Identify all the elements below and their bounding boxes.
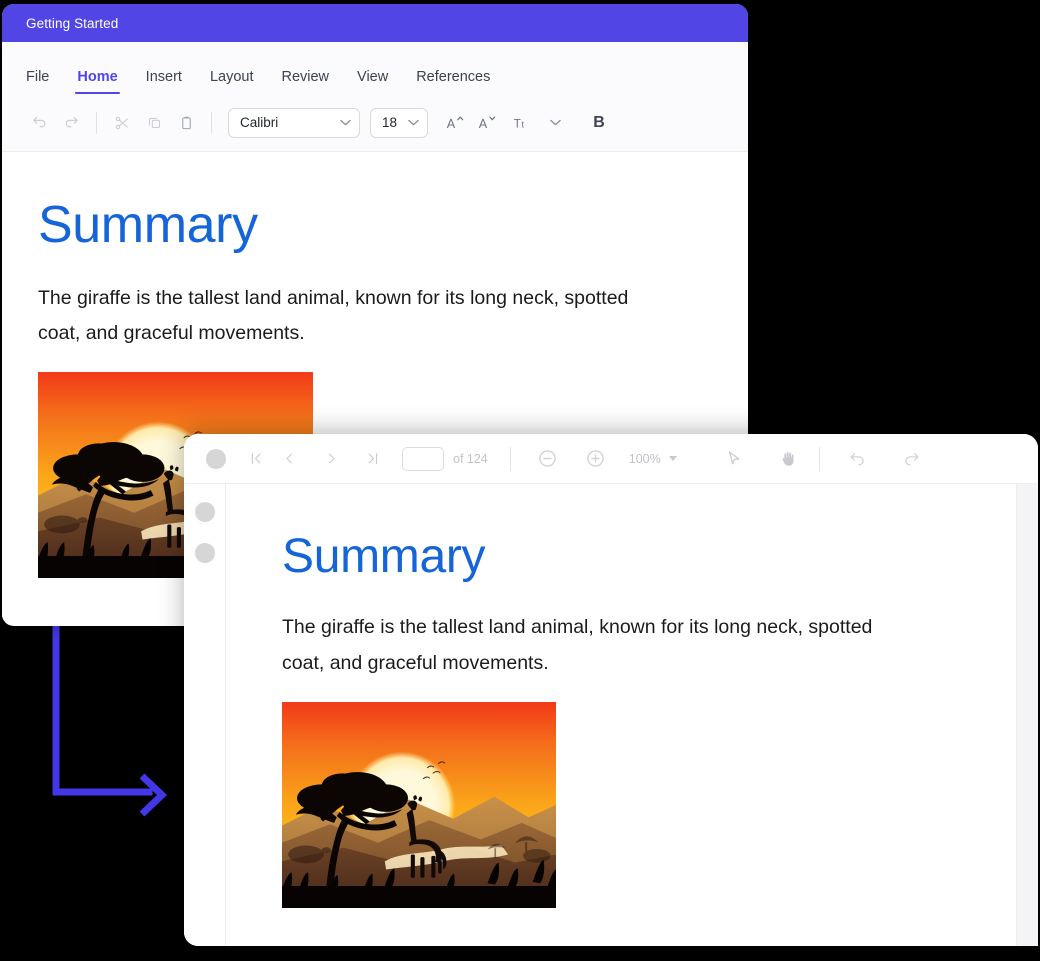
bold-button[interactable]: B (584, 108, 614, 138)
document-heading: Summary (38, 198, 712, 253)
pdf-divider-1 (510, 447, 511, 471)
last-page-button[interactable] (358, 444, 388, 474)
grow-font-icon: A (446, 113, 465, 132)
tab-view[interactable]: View (343, 69, 402, 94)
font-size-value: 18 (382, 115, 397, 130)
svg-text:t: t (521, 119, 524, 129)
window-title: Getting Started (26, 16, 118, 31)
tab-file[interactable]: File (26, 69, 63, 94)
first-page-button[interactable] (240, 444, 270, 474)
font-size-select[interactable]: 18 (370, 108, 428, 138)
document-paragraph: The giraffe is the tallest land animal, … (38, 281, 638, 352)
paste-button[interactable] (171, 108, 201, 138)
more-text-options-button[interactable] (540, 108, 570, 138)
tab-layout[interactable]: Layout (196, 69, 268, 94)
toolbar-divider-1 (96, 112, 97, 134)
redo-button[interactable] (56, 108, 86, 138)
pdf-gutter (226, 484, 240, 946)
pdf-viewer-window: of 124 100% (184, 434, 1038, 946)
pdf-undo-button[interactable] (842, 444, 872, 474)
screenshot-stage: Getting Started File Home Insert Layout … (0, 0, 1040, 961)
next-page-button[interactable] (316, 444, 346, 474)
redo-icon (902, 449, 921, 468)
copy-icon (147, 115, 162, 130)
shrink-font-icon: A (478, 113, 497, 132)
hand-icon (779, 450, 797, 468)
undo-button[interactable] (24, 108, 54, 138)
font-family-value: Calibri (240, 115, 278, 130)
pan-tool-button[interactable] (773, 444, 803, 474)
change-case-button[interactable]: T t (508, 108, 538, 138)
pdf-divider-2 (819, 447, 820, 471)
tab-home[interactable]: Home (63, 69, 131, 94)
change-case-icon: T t (513, 114, 533, 132)
shrink-font-button[interactable]: A (472, 108, 502, 138)
svg-text:T: T (514, 118, 521, 130)
pdf-paragraph: The giraffe is the tallest land animal, … (282, 610, 902, 681)
pdf-heading: Summary (282, 532, 974, 582)
zoom-in-icon (585, 448, 606, 469)
clipboard-icon (179, 115, 194, 131)
last-page-icon (366, 451, 381, 466)
chevron-down-icon (550, 119, 561, 126)
cut-button[interactable] (107, 108, 137, 138)
page-number-input[interactable] (402, 447, 444, 471)
undo-icon (848, 449, 867, 468)
first-page-icon (248, 451, 263, 466)
ribbon-tabs: File Home Insert Layout Review View Refe… (2, 42, 748, 94)
chevron-down-icon (408, 119, 419, 126)
tab-references[interactable]: References (402, 69, 504, 94)
pdf-page-content[interactable]: Summary The giraffe is the tallest land … (240, 484, 1016, 946)
editor-titlebar: Getting Started (2, 4, 748, 42)
page-thumbnail-2[interactable] (195, 543, 215, 563)
pdf-vertical-scrollbar[interactable] (1016, 484, 1038, 946)
zoom-in-button[interactable] (581, 444, 611, 474)
cursor-arrow-icon (726, 450, 743, 467)
formatting-toolbar: Calibri 18 A A T (2, 94, 748, 152)
svg-text:A: A (446, 117, 455, 131)
chevron-down-icon (669, 456, 677, 461)
zoom-out-button[interactable] (533, 444, 563, 474)
bold-label: B (593, 114, 605, 132)
prev-page-icon (282, 451, 297, 466)
pdf-redo-button[interactable] (896, 444, 926, 474)
page-count-label: of 124 (453, 452, 488, 466)
savanna-sunset-illustration (282, 702, 556, 908)
zoom-level-dropdown[interactable]: 100% (629, 452, 677, 466)
chevron-down-icon (340, 119, 351, 126)
next-page-icon (324, 451, 339, 466)
tab-insert[interactable]: Insert (132, 69, 196, 94)
pdf-thumbnail-sidebar (184, 484, 226, 946)
pdf-document-image[interactable] (282, 702, 556, 908)
select-tool-button[interactable] (719, 444, 749, 474)
redo-icon (63, 114, 80, 131)
zoom-out-icon (537, 448, 558, 469)
scissors-icon (114, 115, 130, 131)
prev-page-button[interactable] (274, 444, 304, 474)
menu-dot-icon[interactable] (206, 449, 226, 469)
pdf-body: Summary The giraffe is the tallest land … (184, 484, 1038, 946)
pdf-toolbar: of 124 100% (184, 434, 1038, 484)
toolbar-divider-2 (211, 112, 212, 134)
copy-button[interactable] (139, 108, 169, 138)
undo-icon (31, 114, 48, 131)
page-thumbnail-1[interactable] (195, 502, 215, 522)
svg-text:A: A (478, 117, 487, 131)
font-family-select[interactable]: Calibri (228, 108, 360, 138)
tab-review[interactable]: Review (267, 69, 343, 94)
zoom-level-value: 100% (629, 452, 661, 466)
grow-font-button[interactable]: A (440, 108, 470, 138)
